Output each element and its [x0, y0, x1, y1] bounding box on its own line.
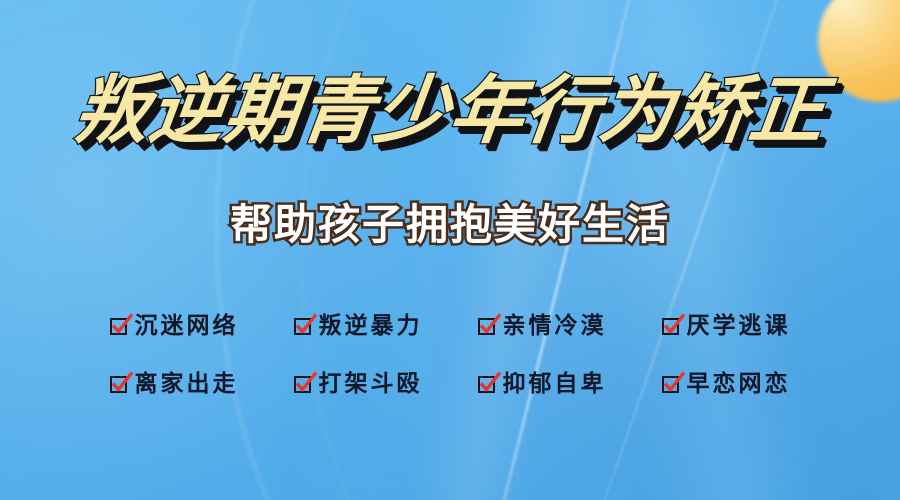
checklist: 沉迷网络 叛逆暴力 亲情冷漠 厌学逃课	[82, 296, 818, 412]
checkbox-checked-icon[interactable]	[662, 374, 681, 393]
checkmark-icon	[477, 312, 503, 338]
list-item-label: 早恋网恋	[687, 372, 791, 395]
checkbox-checked-icon[interactable]	[478, 316, 497, 335]
checkbox-checked-icon[interactable]	[478, 374, 497, 393]
page-title: 叛逆期青少年行为矫正	[70, 74, 829, 148]
poster-banner: 叛逆期青少年行为矫正 帮助孩子拥抱美好生活 沉迷网络 叛逆暴力 亲情冷漠	[0, 0, 900, 500]
checkmark-icon	[109, 312, 135, 338]
checklist-item-2[interactable]: 叛逆暴力	[294, 314, 423, 337]
list-item-label: 抑郁自卑	[503, 372, 607, 395]
checkmark-icon	[293, 312, 319, 338]
checklist-item-8[interactable]: 早恋网恋	[662, 372, 791, 395]
checklist-item-4[interactable]: 厌学逃课	[662, 314, 791, 337]
checkbox-checked-icon[interactable]	[294, 374, 313, 393]
list-item-label: 打架斗殴	[319, 372, 423, 395]
checkmark-icon	[293, 370, 319, 396]
checkmark-icon	[477, 370, 503, 396]
checklist-item-7[interactable]: 抑郁自卑	[478, 372, 607, 395]
list-item-label: 叛逆暴力	[319, 314, 423, 337]
checkbox-checked-icon[interactable]	[110, 374, 129, 393]
checkbox-checked-icon[interactable]	[294, 316, 313, 335]
checkbox-checked-icon[interactable]	[110, 316, 129, 335]
checkbox-checked-icon[interactable]	[662, 316, 681, 335]
checklist-item-5[interactable]: 离家出走	[110, 372, 239, 395]
list-item-label: 厌学逃课	[687, 314, 791, 337]
list-item-label: 沉迷网络	[135, 314, 239, 337]
checkmark-icon	[109, 370, 135, 396]
checklist-item-6[interactable]: 打架斗殴	[294, 372, 423, 395]
list-item-label: 离家出走	[135, 372, 239, 395]
headline-block: 叛逆期青少年行为矫正	[0, 74, 900, 148]
page-subtitle: 帮助孩子拥抱美好生活	[230, 204, 670, 246]
checkmark-icon	[661, 370, 687, 396]
list-item-label: 亲情冷漠	[503, 314, 607, 337]
checklist-item-3[interactable]: 亲情冷漠	[478, 314, 607, 337]
checklist-item-1[interactable]: 沉迷网络	[110, 314, 239, 337]
checkmark-icon	[661, 312, 687, 338]
subheadline-block: 帮助孩子拥抱美好生活	[0, 204, 900, 246]
